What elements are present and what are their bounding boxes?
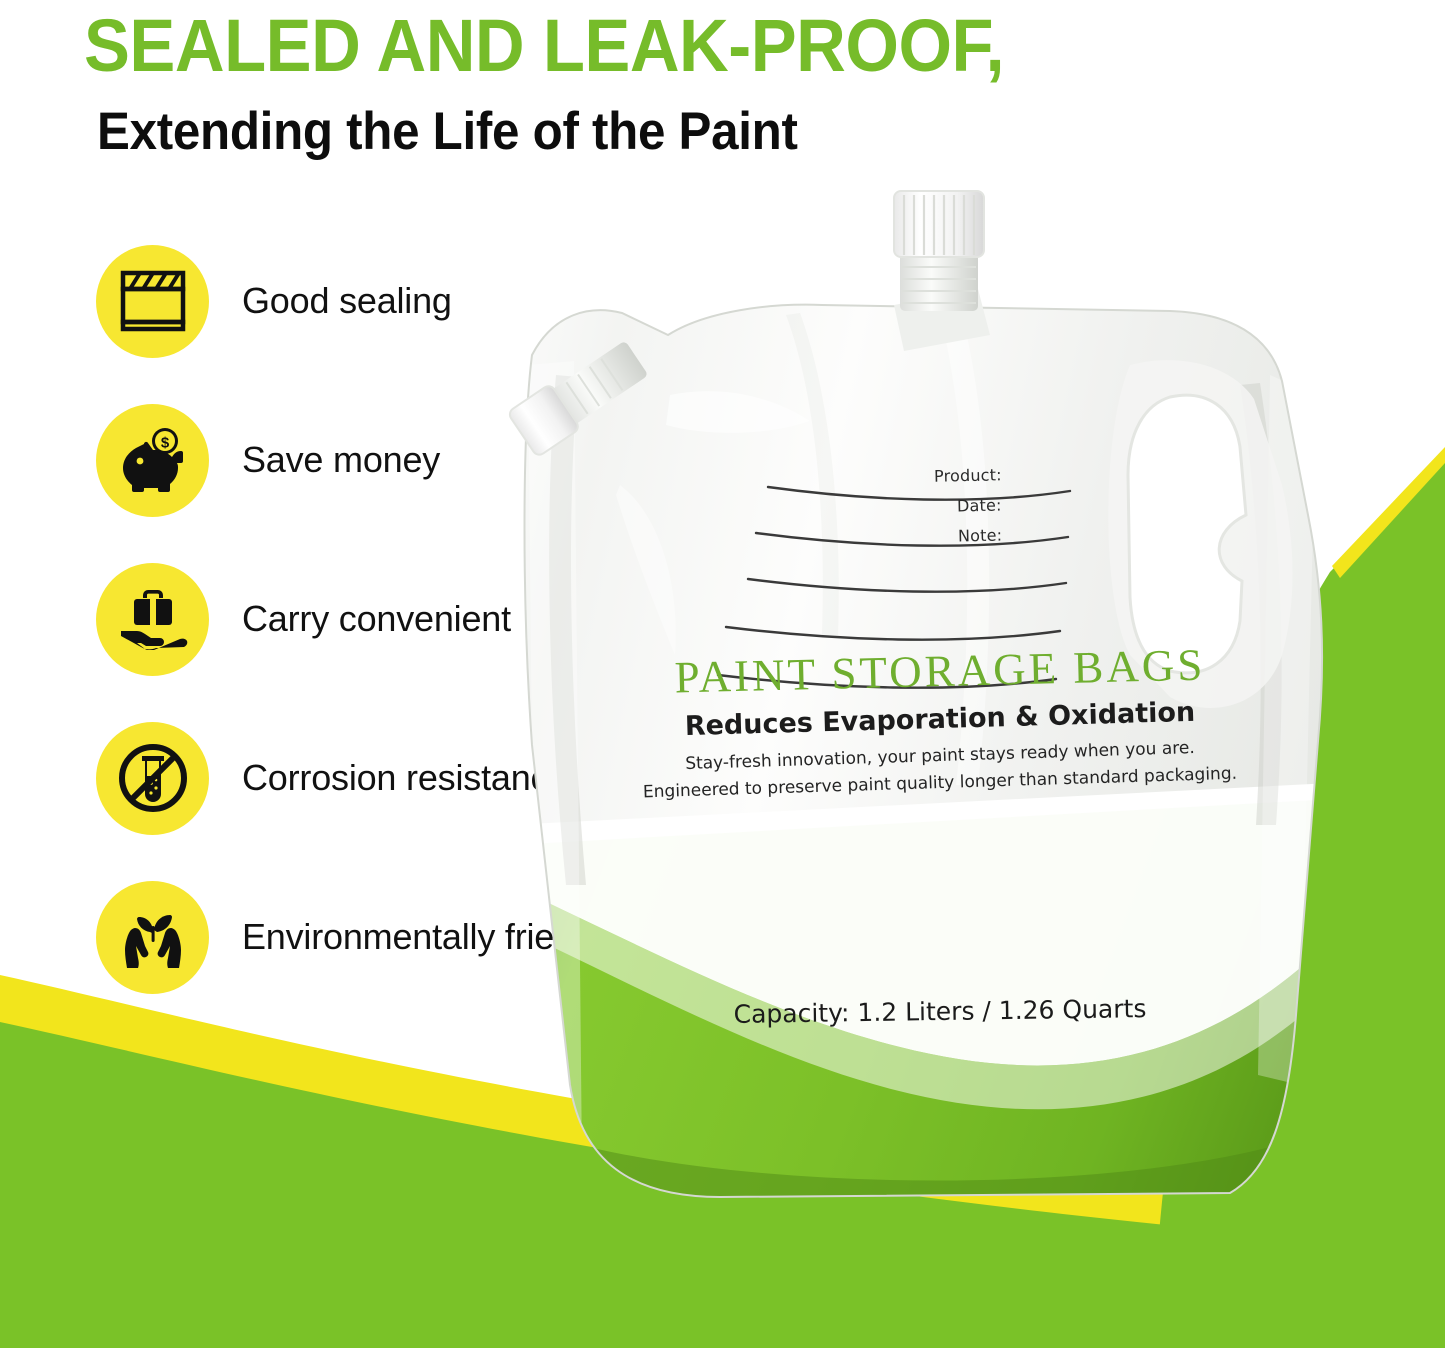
briefcase-in-hand-icon (96, 563, 209, 676)
bag-illustration (470, 185, 1410, 1260)
piggy-bank-icon: $ (96, 404, 209, 517)
feature-label: Save money (242, 439, 440, 481)
product-image-paint-storage-bag: Product: Date: Note: PAINT STORAGE BAGS … (470, 185, 1410, 1260)
bag-body (470, 185, 1410, 1260)
page-subtitle: Extending the Life of the Paint (84, 86, 1181, 161)
headline-block: SEALED AND LEAK-PROOF, Extending the Lif… (84, 0, 1264, 161)
svg-text:$: $ (160, 435, 169, 452)
sealed-container-icon (96, 245, 209, 358)
main-spout-cap (894, 191, 990, 351)
product-infographic: SEALED AND LEAK-PROOF, Extending the Lif… (0, 0, 1445, 1348)
no-corrosive-test-tube-icon (96, 722, 209, 835)
hands-holding-plant-icon (96, 881, 209, 994)
feature-label: Good sealing (242, 280, 452, 322)
left-seal (528, 361, 582, 1165)
page-title: SEALED AND LEAK-PROOF, (84, 0, 1181, 86)
